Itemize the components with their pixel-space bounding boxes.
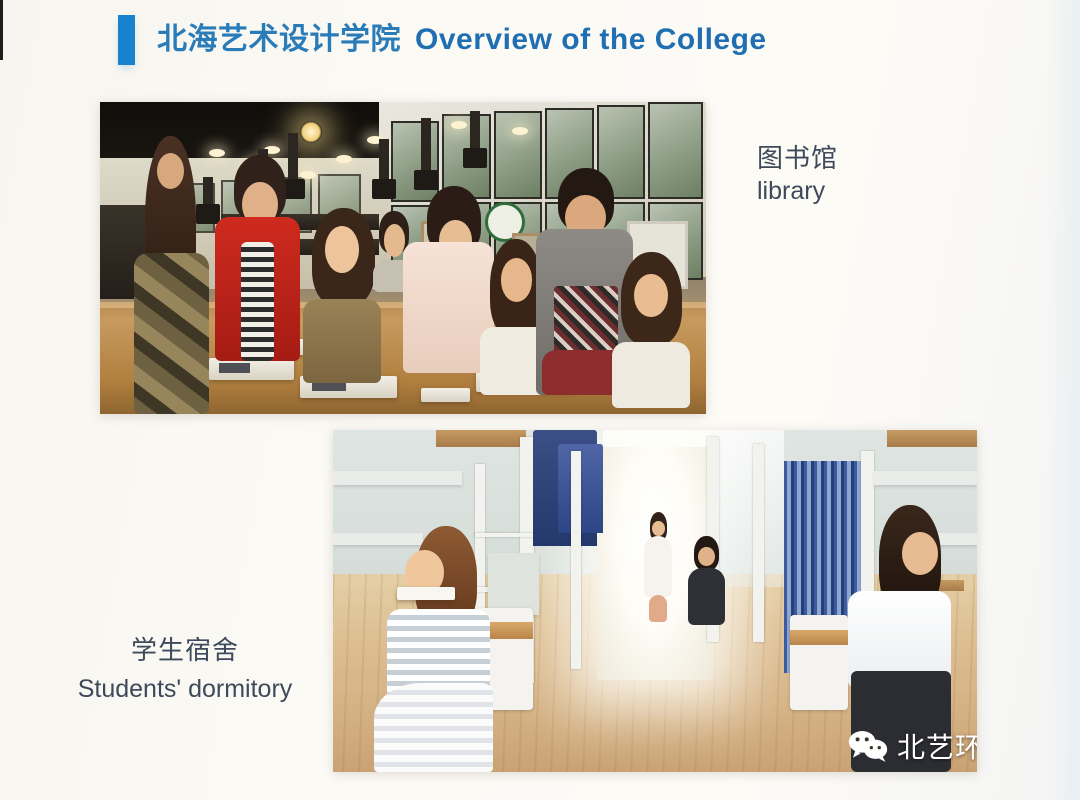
library-person xyxy=(609,252,694,408)
page-title: 北海艺术设计学院Overview of the College xyxy=(157,25,767,55)
caption-library-en: library xyxy=(757,175,838,207)
caption-library: 图书馆 library xyxy=(757,142,838,207)
wechat-icon xyxy=(848,729,888,763)
library-pendant-lamp xyxy=(421,118,431,174)
dormitory-bunk-rail xyxy=(753,444,765,642)
library-window-pane xyxy=(648,102,703,199)
dormitory-person xyxy=(372,526,501,772)
left-edge-rule xyxy=(0,0,3,60)
right-edge-gradient xyxy=(1046,0,1080,800)
watermark: 北艺环艺小团 xyxy=(848,726,977,766)
library-magazine xyxy=(209,358,294,380)
library-pendant-light xyxy=(300,121,322,143)
caption-dormitory-cn: 学生宿舍 xyxy=(40,634,330,667)
library-magazine xyxy=(421,388,469,402)
dormitory-shelf xyxy=(333,471,462,485)
caption-library-cn: 图书馆 xyxy=(757,142,838,175)
title-accent-bar xyxy=(118,15,135,65)
library-downlight xyxy=(300,171,316,179)
photo-library xyxy=(100,102,706,414)
photo-dormitory: 北艺环艺小团 xyxy=(333,430,977,772)
dormitory-person xyxy=(687,536,726,625)
caption-dormitory-en: Students' dormitory xyxy=(40,673,330,705)
library-downlight xyxy=(451,121,467,129)
page-title-en: Overview of the College xyxy=(415,23,767,56)
watermark-text: 北艺环艺小团 xyxy=(897,726,977,766)
dormitory-shelf xyxy=(874,471,977,485)
dormitory-bunk-rail xyxy=(571,451,581,670)
dormitory-person xyxy=(642,512,674,621)
page-title-cn: 北海艺术设计学院 xyxy=(157,23,401,56)
dormitory-bunk-board xyxy=(887,430,977,447)
slide-canvas: 北海艺术设计学院Overview of the College xyxy=(0,0,1080,800)
dormitory-scene xyxy=(333,430,977,772)
library-person xyxy=(118,136,215,414)
library-downlight xyxy=(512,127,528,135)
dormitory-book xyxy=(397,587,455,600)
dormitory-hanging-laundry xyxy=(558,444,603,533)
library-scene xyxy=(100,102,706,414)
dormitory-bunk-board xyxy=(436,430,526,447)
library-person xyxy=(215,155,300,361)
library-pendant-lamp xyxy=(379,139,389,183)
caption-dormitory: 学生宿舍 Students' dormitory xyxy=(40,634,330,705)
library-window-pane xyxy=(494,111,542,198)
library-pendant-lamp xyxy=(470,111,480,152)
slide-header: 北海艺术设计学院Overview of the College xyxy=(118,14,767,66)
